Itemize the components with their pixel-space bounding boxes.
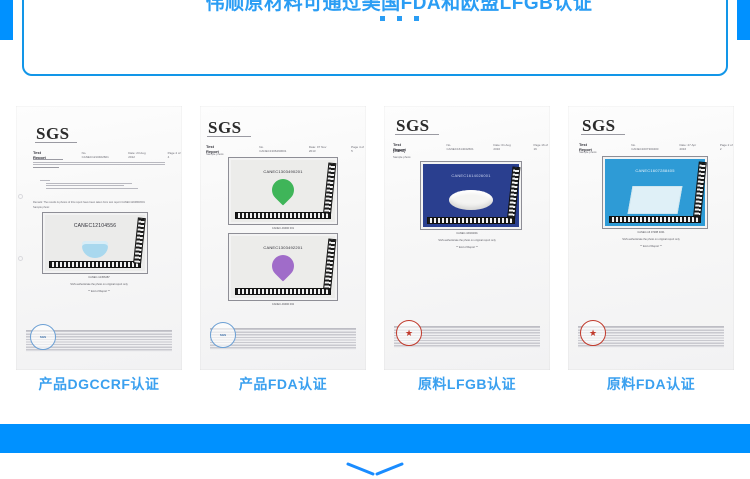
sgs-stamp-2: SGS [210,322,236,348]
photo-code-2-bottom: CANEC1303492201 [263,245,302,250]
logo-underline [35,142,77,143]
bottom-accent-bar [0,424,750,453]
notes-block-1 [40,180,150,189]
caption-cert-1: 产品DGCCRF认证 [10,374,188,394]
certificate-image-3[interactable]: SGS Test Report No. CANEC1614042601 Date… [378,104,556,372]
photo-caption-1: CANEC-12456487 [16,276,182,279]
report-date: Date: 01 Aug 2016 [493,143,515,151]
caption-cert-4: 原料FDA认证 [562,374,740,394]
report-header-2: Test Report No. CANEC1306490601 Date: 07… [206,144,366,154]
auth-note-4: SGS authenticate the photo on original r… [568,238,734,241]
ruler-horizontal [427,217,515,224]
ruler-horizontal [49,261,141,268]
sample-photo-1: CANEC12104556 [42,212,148,274]
dot-2 [397,16,402,21]
dot-1 [380,16,385,21]
report-no: No. CANEC1210402601 [82,151,113,159]
photo-code-1: CANEC12104556 [74,223,116,229]
sgs-logo: SGS [582,116,616,136]
sample-photo-label-1: Sample photo: [33,206,50,209]
sample-photo-3: CANEC1614026001 [420,161,522,230]
logo-underline [207,136,251,137]
auth-note-3: SGS authenticate the photo on original r… [384,239,550,242]
logo-underline [581,134,625,135]
end-note-3: ** End of Report ** [384,246,550,249]
ruler-vertical [323,163,336,215]
sgs-stamp-1: SGS [30,324,56,350]
result-table-1 [33,159,165,168]
certificate-image-1[interactable]: SGS Test Report No. CANEC1210402601 Date… [10,104,188,372]
photo-caption-2-top: CANEC-03490 001 [200,227,366,230]
left-accent-bar [0,0,13,40]
report-date: Date: 27 Apr 2016 [679,143,701,151]
certificate-image-2[interactable]: SGS Test Report No. CANEC1306490601 Date… [194,104,372,372]
report-page: Page 2 of 2 [720,143,734,151]
paper-2: SGS Test Report No. CANEC1306490601 Date… [200,106,366,370]
ruler-horizontal [235,288,331,295]
sample-photo-label-4: Sample photo: [579,150,597,154]
end-note-1: ** End of Report ** [16,290,182,293]
chevron-down-icon [340,461,410,479]
report-no: No. CANEC1614042601 [446,143,475,151]
sample-photo-4: CANEC1607288405 [602,156,708,229]
auth-note-1: SGS authenticate the photo on original r… [16,283,182,286]
ruler-vertical [133,217,146,264]
banner-subtitle: 伟顺原材料可通过美国FDA和欧盟LFGB认证 [24,0,750,15]
ruler-vertical [323,239,336,291]
sgs-logo: SGS [396,116,430,136]
photo-caption-4: CANEC-16 07288 4001 [568,231,734,234]
report-date: Date: 23 Aug 2012 [128,151,151,159]
paper-1: SGS Test Report No. CANEC1210402601 Date… [16,106,182,370]
sample-photo-label-3: Sample photo: [393,155,411,159]
certificate-grid: SGS Test Report No. CANEC1210402601 Date… [0,104,750,372]
ruler-horizontal [609,216,701,223]
photo-code-2-top: CANEC1303490201 [263,169,302,174]
paper-4: SGS Test Report No. CANEC1607300400 Date… [568,106,734,370]
sample-photo-2-top: CANEC1303490201 [228,157,338,225]
certificate-image-4[interactable]: SGS Test Report No. CANEC1607300400 Date… [562,104,740,372]
report-date: Date: 07 Nov 2013 [309,145,333,153]
star-icon: ★ [405,329,413,338]
product-droplet-green [267,174,298,205]
photo-code-4: CANEC1607288405 [635,168,674,173]
red-seal-stamp-4: ★ [580,320,606,346]
certification-section: 认证资质 伟顺原材料可通过美国FDA和欧盟LFGB认证 SGS Test Rep… [0,0,750,479]
star-icon: ★ [589,329,597,338]
ruler-horizontal [235,212,331,219]
caption-cert-3: 原料LFGB认证 [378,374,556,394]
sgs-logo: SGS [208,118,242,138]
photo-caption-3: CANEC-16024001 [384,232,550,235]
ruler-vertical [507,167,520,220]
header-banner: 认证资质 伟顺原材料可通过美国FDA和欧盟LFGB认证 [22,0,728,76]
report-header-4: Test Report No. CANEC1607300400 Date: 27… [579,142,734,152]
certificate-captions: 产品DGCCRF认证 产品FDA认证 原料LFGB认证 原料FDA认证 [0,374,750,394]
punch-hole [18,256,23,261]
logo-underline [395,134,439,135]
red-seal-stamp-3: ★ [396,320,422,346]
end-note-4: ** End of Report ** [568,245,734,248]
photo-code-3: CANEC1614026001 [451,173,490,178]
report-page: Page 16 of 16 [533,143,550,151]
caption-cert-2: 产品FDA认证 [194,374,372,394]
sample-photo-label-2: Sample photo: [206,152,224,156]
report-subtitle-3: (SVHC) [393,149,405,153]
sgs-logo: SGS [36,124,70,144]
ruler-vertical [693,162,707,218]
report-page: Page 4 of 4 [168,151,182,159]
scroll-down-indicator[interactable] [0,461,750,479]
product-bowl [82,241,108,258]
report-no: No. CANEC1607300400 [631,143,661,151]
product-pebble [449,190,493,210]
product-droplet-purple [267,250,298,281]
decorative-dots [24,16,750,21]
sample-remark-1: Remark: The results & photos of this rep… [33,201,173,204]
punch-hole [18,194,23,199]
product-sheet [628,186,683,214]
paper-3: SGS Test Report No. CANEC1614042601 Date… [384,106,550,370]
report-header-3: Test Report No. CANEC1614042601 Date: 01… [393,142,550,152]
sample-photo-2-bottom: CANEC1303492201 [228,233,338,301]
dot-3 [414,16,419,21]
report-no: No. CANEC1306490601 [259,145,291,153]
report-page: Page 4 of 5 [351,145,366,153]
photo-caption-2-bottom: CANEC-03490 002 [200,303,366,306]
